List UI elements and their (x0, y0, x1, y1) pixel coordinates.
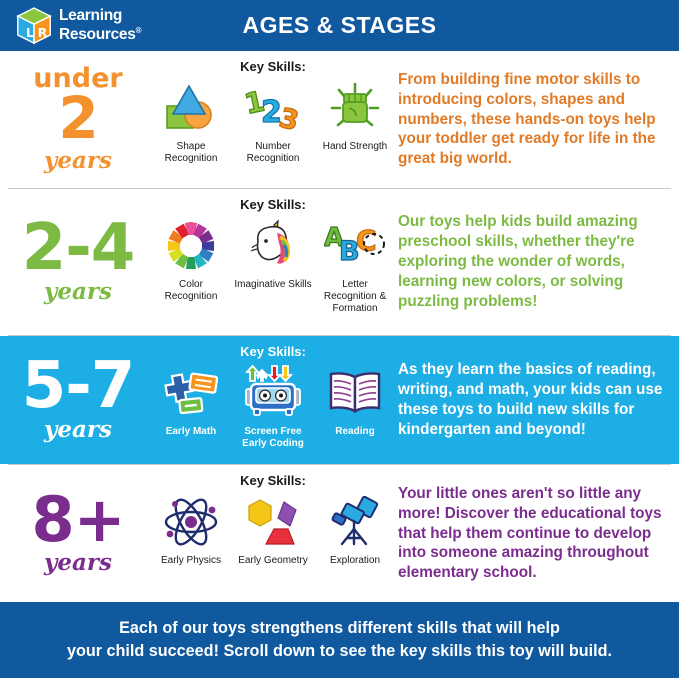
section-description: From building fine motor skills to intro… (398, 70, 669, 169)
registered-mark: ® (136, 26, 142, 35)
key-skills-group: Key Skills: (152, 195, 394, 316)
skill-label: Shape Recognition (152, 141, 230, 165)
cube-logo-icon: L R (16, 7, 52, 45)
age-section-5-7: 5-7 years Key Skills: (0, 336, 679, 464)
open-book-icon (327, 362, 383, 424)
age-number: 2-4 (22, 219, 135, 278)
description-column: From building fine motor skills to intro… (394, 70, 679, 169)
key-skills-group: Key Skills: Shape Recognition (152, 57, 394, 165)
age-years-label: years (44, 147, 112, 174)
skill-label: Letter Recognition & Formation (316, 279, 394, 316)
key-skills-heading: Key Skills: (240, 473, 306, 488)
skills-row: Shape Recognition 1 2 3 Number Recogniti… (152, 77, 394, 165)
age-section-under-2: under 2 years Key Skills: Shape Recognit… (0, 51, 679, 188)
skill-item: Early Physics (152, 491, 230, 567)
brand-line-2: Resources (59, 27, 136, 44)
brand-wordmark: Learning Resources® (59, 8, 141, 43)
skill-label: Early Geometry (238, 555, 307, 567)
skill-label: Color Recognition (152, 279, 230, 303)
geometry-shapes-icon (244, 491, 302, 553)
age-number: 8+ (31, 491, 124, 548)
age-number: 5-7 (22, 357, 135, 416)
description-column: As they learn the basics of reading, wri… (394, 360, 679, 440)
math-symbols-icon (162, 362, 220, 424)
key-skills-heading: Key Skills: (240, 59, 306, 74)
skills-row: Early Physics Early Geometry (152, 491, 394, 567)
section-description: Our toys help kids build amazing prescho… (398, 212, 669, 311)
skill-label: Hand Strength (323, 141, 388, 153)
age-section-8-plus: 8+ years Key Skills: (0, 465, 679, 602)
brand-logo: L R Learning Resources® (16, 7, 141, 45)
abc-letters-icon: A B C (324, 215, 386, 277)
svg-text:C: C (356, 224, 377, 257)
svg-text:R: R (38, 24, 48, 39)
skill-label: Exploration (330, 555, 380, 567)
age-years-label: years (44, 416, 112, 443)
age-label-group: under 2 years (0, 65, 152, 173)
age-label-group: 8+ years (0, 491, 152, 576)
skill-item: Color Recognition (152, 215, 230, 303)
key-skills-group: Key Skills: (152, 342, 394, 450)
age-section-2-4: 2-4 years Key Skills: (0, 189, 679, 335)
footer-message: Each of our toys strengthens different s… (53, 617, 626, 663)
age-years-label: years (44, 549, 112, 576)
skill-item: Early Math (152, 362, 230, 438)
fist-icon (327, 77, 383, 139)
age-label-group: 2-4 years (0, 219, 152, 306)
skill-item: Screen Free Early Coding (234, 362, 312, 450)
skill-item: Shape Recognition (152, 77, 230, 165)
description-column: Our toys help kids build amazing prescho… (394, 212, 679, 311)
skills-row: Color Recognition (152, 215, 394, 316)
color-wheel-icon (164, 215, 218, 277)
skill-label: Early Math (166, 426, 217, 438)
key-skills-heading: Key Skills: (240, 344, 306, 359)
footer-line-2: your child succeed! Scroll down to see t… (67, 642, 612, 660)
atom-icon (162, 491, 220, 553)
section-description: As they learn the basics of reading, wri… (398, 360, 669, 440)
skill-item: Reading (316, 362, 394, 438)
infographic-page: L R Learning Resources® AGES & STAGES un… (0, 0, 679, 678)
skill-label: Imaginative Skills (234, 279, 311, 291)
telescope-icon (325, 491, 385, 553)
age-years-label: years (44, 278, 112, 305)
age-label-group: 5-7 years (0, 357, 152, 444)
skill-item: Imaginative Skills (234, 215, 312, 291)
key-skills-heading: Key Skills: (240, 197, 306, 212)
brand-line-1: Learning (59, 7, 122, 24)
section-description: Your little ones aren't so little any mo… (398, 484, 669, 583)
shapes-icon (163, 77, 219, 139)
svg-text:L: L (26, 24, 34, 39)
page-header: L R Learning Resources® AGES & STAGES (0, 0, 679, 51)
description-column: Your little ones aren't so little any mo… (394, 484, 679, 583)
skill-item: A B C Letter Recognition & Formation (316, 215, 394, 316)
footer-line-1: Each of our toys strengthens different s… (119, 619, 560, 637)
skill-item: Exploration (316, 491, 394, 567)
key-skills-group: Key Skills: (152, 471, 394, 567)
skill-item: Early Geometry (234, 491, 312, 567)
numbers-123-icon: 1 2 3 (244, 77, 302, 139)
skill-label: Reading (335, 426, 374, 438)
skill-item: 1 2 3 Number Recognition (234, 77, 312, 165)
skills-row: Early Math (152, 362, 394, 450)
skill-label: Number Recognition (234, 141, 312, 165)
unicorn-icon (244, 215, 302, 277)
coding-robot-icon (242, 362, 304, 424)
age-number: 2 (58, 92, 97, 145)
skill-item: Hand Strength (316, 77, 394, 153)
page-footer: Each of our toys strengthens different s… (0, 602, 679, 678)
skill-label: Screen Free Early Coding (234, 426, 312, 450)
skill-label: Early Physics (161, 555, 221, 567)
